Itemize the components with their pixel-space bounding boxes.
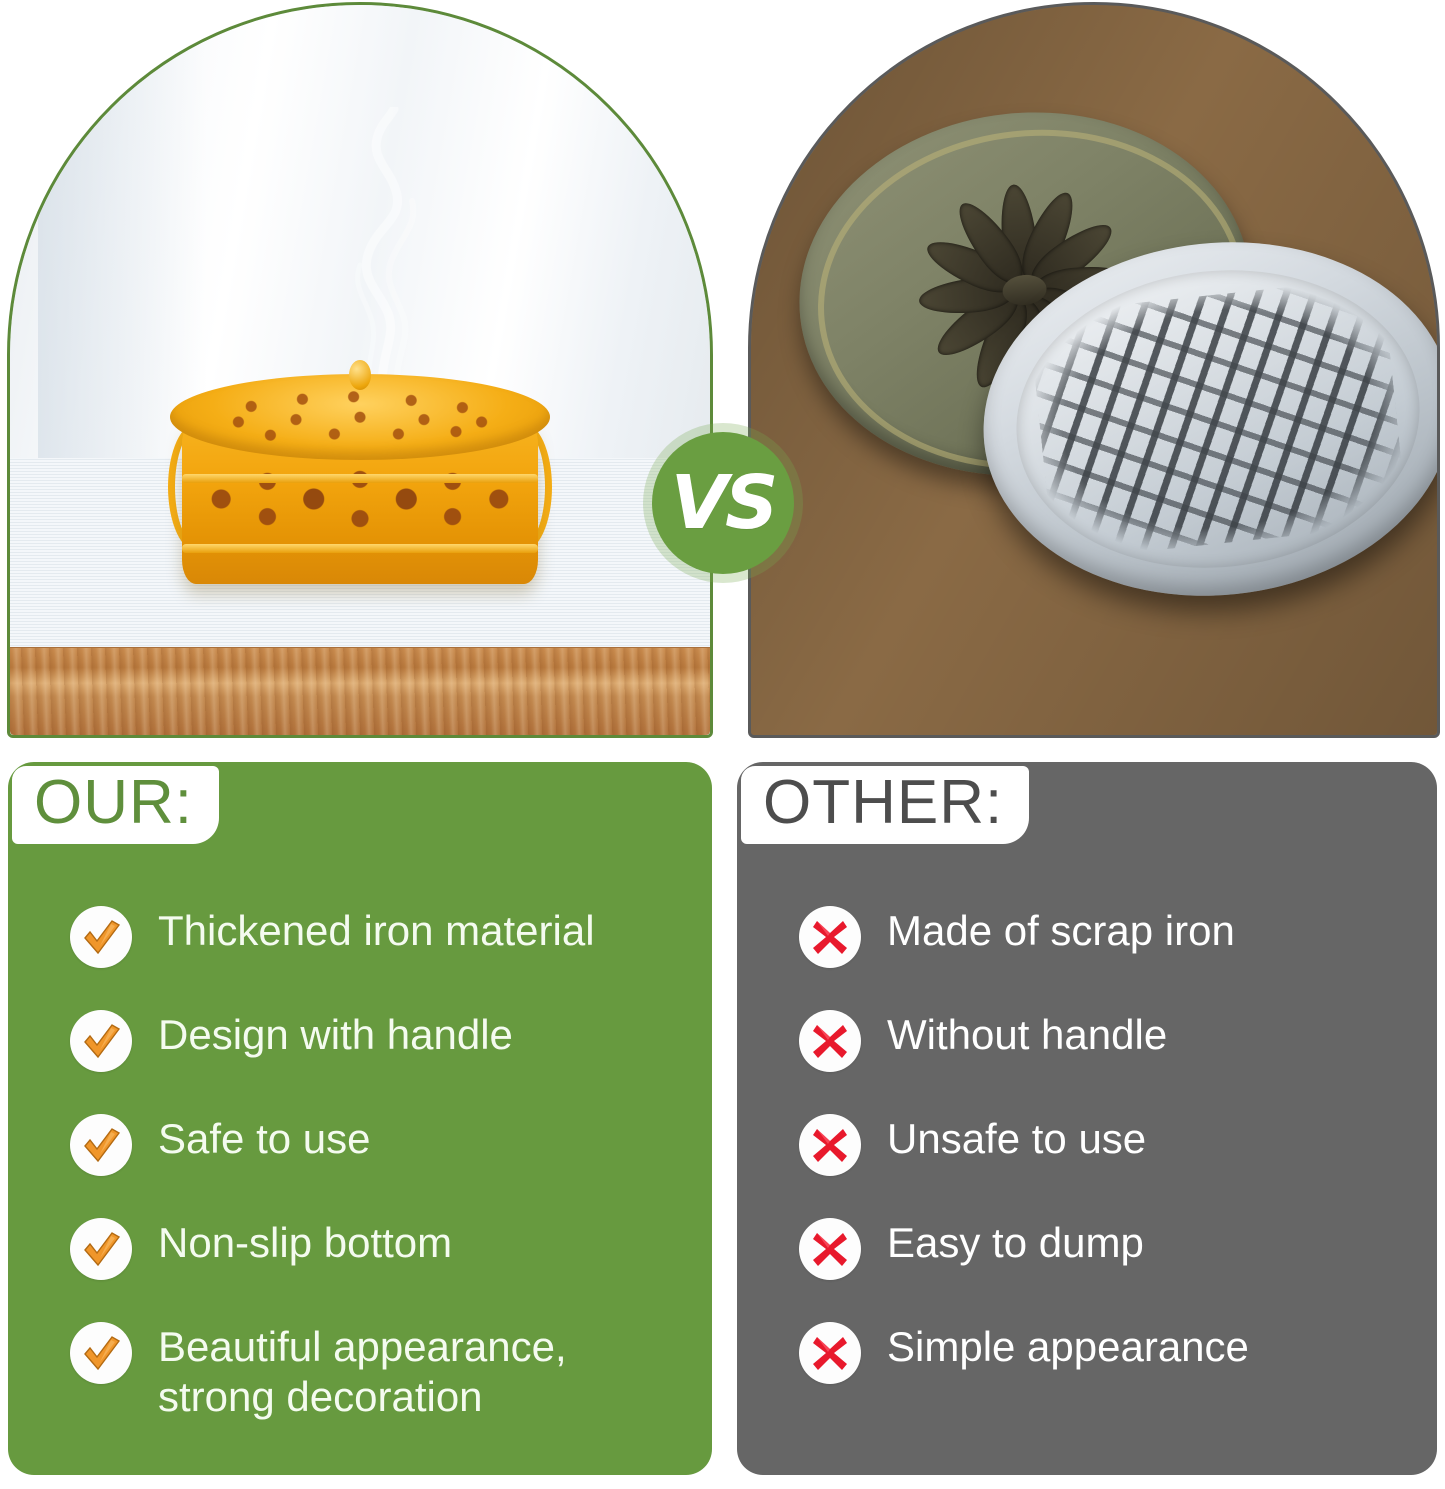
other-features-panel: OTHER: Made of scrap iron xyxy=(737,762,1437,1475)
red-cross-icon xyxy=(799,1114,861,1176)
list-item: Thickened iron material xyxy=(8,902,712,968)
list-item: Unsafe to use xyxy=(737,1110,1437,1176)
wood-table-edge xyxy=(10,647,710,735)
list-item-label: Easy to dump xyxy=(887,1214,1144,1268)
tray-spike-pattern xyxy=(1028,277,1408,561)
tray-inner-surface xyxy=(1002,251,1435,587)
vs-badge: VS xyxy=(652,432,794,574)
red-cross-icon xyxy=(799,1010,861,1072)
infographic-root: VS OUR: Thickened iron material xyxy=(0,0,1445,1489)
list-item-label: Simple appearance xyxy=(887,1318,1249,1372)
list-item-label: Without handle xyxy=(887,1006,1167,1060)
list-item-label: Design with handle xyxy=(158,1006,513,1060)
orange-check-icon xyxy=(70,1322,132,1384)
red-cross-icon xyxy=(799,906,861,968)
list-item-label: Safe to use xyxy=(158,1110,370,1164)
list-item: Design with handle xyxy=(8,1006,712,1072)
red-cross-icon xyxy=(799,1322,861,1384)
orange-check-icon xyxy=(70,1114,132,1176)
other-feature-list: Made of scrap iron Without handle xyxy=(737,902,1437,1384)
feature-comparison-panels: OUR: Thickened iron material xyxy=(0,762,1445,1478)
red-cross-icon xyxy=(799,1218,861,1280)
list-item: Beautiful appearance, strong decoration xyxy=(8,1318,712,1421)
orange-check-icon xyxy=(70,906,132,968)
our-panel-heading: OUR: xyxy=(12,766,219,844)
photo-comparison-row: VS xyxy=(0,0,1445,745)
our-features-panel: OUR: Thickened iron material xyxy=(8,762,712,1475)
our-panel-heading-label: OUR: xyxy=(34,772,193,834)
list-item-label: Unsafe to use xyxy=(887,1110,1146,1164)
list-item: Made of scrap iron xyxy=(737,902,1437,968)
other-photo-scene xyxy=(751,5,1437,735)
other-product-photo xyxy=(748,2,1440,738)
holder-lid-knob xyxy=(349,360,371,390)
holder-band-lower xyxy=(182,544,538,553)
our-feature-list: Thickened iron material Design with hand… xyxy=(8,902,712,1421)
yellow-coil-holder xyxy=(160,348,560,618)
list-item-label: Thickened iron material xyxy=(158,902,595,956)
list-item-label: Non-slip bottom xyxy=(158,1214,452,1268)
holder-band-upper xyxy=(182,474,538,483)
list-item: Easy to dump xyxy=(737,1214,1437,1280)
list-item-label: Made of scrap iron xyxy=(887,902,1235,956)
other-panel-heading-label: OTHER: xyxy=(763,772,1003,834)
our-photo-scene xyxy=(10,5,710,735)
list-item: Simple appearance xyxy=(737,1318,1437,1384)
list-item-label: Beautiful appearance, strong decoration xyxy=(158,1318,567,1421)
orange-check-icon xyxy=(70,1218,132,1280)
orange-check-icon xyxy=(70,1010,132,1072)
our-product-photo xyxy=(7,2,713,738)
list-item: Non-slip bottom xyxy=(8,1214,712,1280)
other-panel-heading: OTHER: xyxy=(741,766,1029,844)
list-item: Without handle xyxy=(737,1006,1437,1072)
list-item: Safe to use xyxy=(8,1110,712,1176)
vs-badge-label: VS xyxy=(671,466,776,540)
